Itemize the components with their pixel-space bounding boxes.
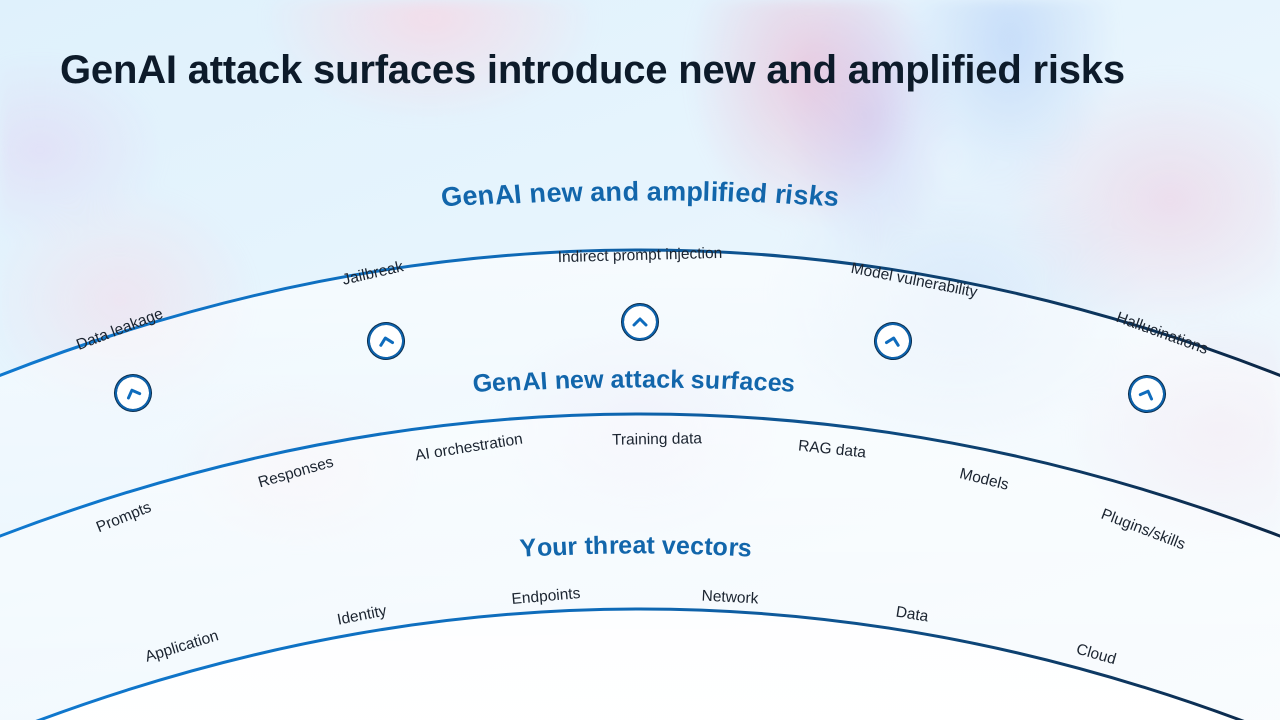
slide-canvas: GenAI attack surfaces introduce new and … [0,0,1280,720]
surface-label-training-data: Training data [612,430,702,450]
chevron-marker-indirect-prompt-injection[interactable] [621,303,659,341]
band-heading-threat-vectors: Your threat vectors [521,532,750,561]
chevron-up-icon [630,312,650,332]
arc-bands-graphic [0,0,1280,720]
page-title: GenAI attack surfaces introduce new and … [60,48,1125,93]
band-heading-attack-surfaces: GenAI new attack surfaces [475,366,793,395]
band-heading-risks: GenAI new and amplified risks [444,177,836,208]
vector-label-network: Network [701,588,759,609]
